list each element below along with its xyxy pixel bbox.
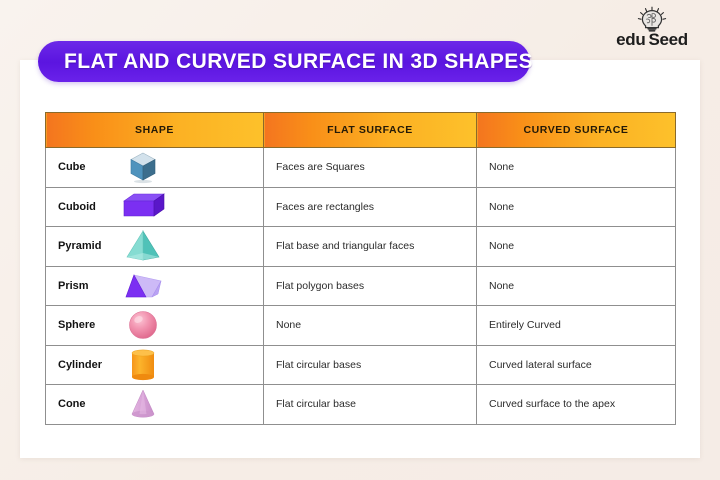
lightbulb-brain-icon bbox=[630, 6, 674, 32]
page-title-badge: FLAT AND CURVED SURFACE IN 3D SHAPES bbox=[38, 41, 530, 82]
table-row: Prism Flat polygon bases None bbox=[46, 266, 676, 306]
cell-curved-surface: Curved lateral surface bbox=[477, 345, 676, 385]
cell-flat-surface: Faces are Squares bbox=[264, 148, 477, 188]
cell-curved-surface: None bbox=[477, 148, 676, 188]
cell-shape: Cone bbox=[46, 385, 264, 425]
brand-name: eduSeed bbox=[616, 31, 688, 48]
cell-shape: Prism bbox=[46, 266, 264, 306]
table-row: Cone bbox=[46, 385, 676, 425]
pyramid-icon bbox=[120, 227, 166, 265]
cell-flat-surface: Flat circular bases bbox=[264, 345, 477, 385]
cone-icon bbox=[120, 385, 166, 423]
brand-name-part2: Seed bbox=[648, 30, 687, 49]
cube-icon bbox=[120, 148, 166, 186]
table-row: Sphere bbox=[46, 306, 676, 346]
table-row: Cuboid Faces are rectangles None bbox=[46, 187, 676, 227]
table-row: Cube Faces are Squares None bbox=[46, 148, 676, 188]
cylinder-icon bbox=[120, 346, 166, 384]
cell-curved-surface: Curved surface to the apex bbox=[477, 385, 676, 425]
shape-label: Cuboid bbox=[58, 201, 120, 213]
table-row: Pyramid Flat base and triangular faces N… bbox=[46, 227, 676, 267]
cell-flat-surface: Faces are rectangles bbox=[264, 187, 477, 227]
brand-logo: eduSeed bbox=[598, 6, 706, 52]
cell-flat-surface: None bbox=[264, 306, 477, 346]
infographic-page: eduSeed FLAT AND CURVED SURFACE IN 3D SH… bbox=[0, 0, 720, 480]
page-title: FLAT AND CURVED SURFACE IN 3D SHAPES bbox=[64, 50, 533, 74]
cell-curved-surface: None bbox=[477, 266, 676, 306]
cuboid-icon bbox=[120, 188, 166, 226]
cell-shape: Sphere bbox=[46, 306, 264, 346]
table-header: SHAPE FLAT SURFACE CURVED SURFACE bbox=[46, 113, 676, 148]
shape-label: Prism bbox=[58, 280, 120, 292]
cell-curved-surface: None bbox=[477, 187, 676, 227]
shape-label: Cylinder bbox=[58, 359, 120, 371]
table-body: Cube Faces are Squares None bbox=[46, 148, 676, 425]
cell-flat-surface: Flat base and triangular faces bbox=[264, 227, 477, 267]
column-header-shape: SHAPE bbox=[46, 113, 264, 148]
cell-curved-surface: Entirely Curved bbox=[477, 306, 676, 346]
cell-shape: Cube bbox=[46, 148, 264, 188]
surface-properties-table: SHAPE FLAT SURFACE CURVED SURFACE Cube bbox=[45, 112, 676, 425]
column-header-flat-surface: FLAT SURFACE bbox=[264, 113, 477, 148]
shape-label: Pyramid bbox=[58, 240, 120, 252]
cell-shape: Cylinder bbox=[46, 345, 264, 385]
cell-shape: Pyramid bbox=[46, 227, 264, 267]
cell-shape: Cuboid bbox=[46, 187, 264, 227]
sphere-icon bbox=[120, 306, 166, 344]
shape-label: Cone bbox=[58, 398, 120, 410]
brand-name-part1: edu bbox=[616, 30, 645, 49]
shape-label: Sphere bbox=[58, 319, 120, 331]
column-header-curved-surface: CURVED SURFACE bbox=[477, 113, 676, 148]
table-header-row: SHAPE FLAT SURFACE CURVED SURFACE bbox=[46, 113, 676, 148]
shape-label: Cube bbox=[58, 161, 120, 173]
cell-flat-surface: Flat polygon bases bbox=[264, 266, 477, 306]
cell-curved-surface: None bbox=[477, 227, 676, 267]
cell-flat-surface: Flat circular base bbox=[264, 385, 477, 425]
prism-icon bbox=[120, 267, 166, 305]
table-row: Cylinder bbox=[46, 345, 676, 385]
